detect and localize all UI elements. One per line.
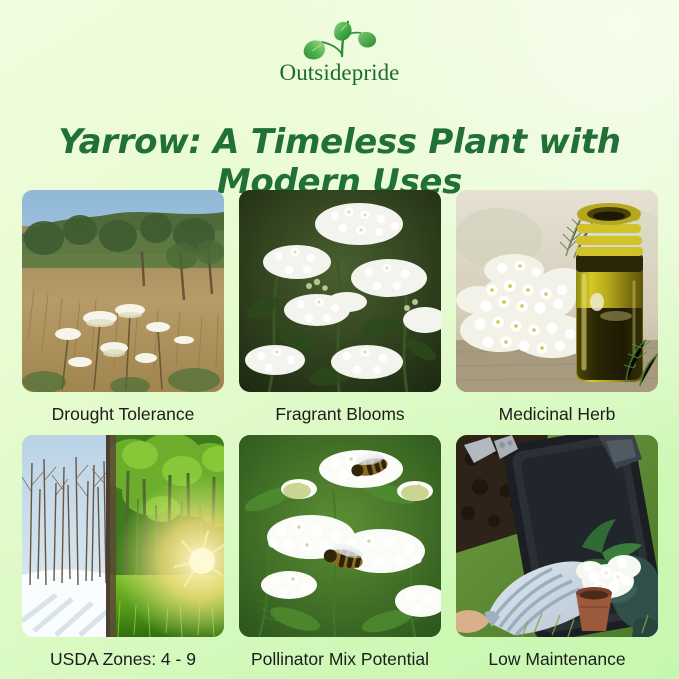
feature-cell-pollinator-mix: Pollinator Mix Potential (239, 435, 441, 675)
bees-on-yarrow-photo (239, 435, 441, 637)
winter-summer-forest-photo (22, 435, 224, 637)
gardening-gloves-tools-photo (456, 435, 658, 637)
feature-cell-fragrant-blooms: Fragrant Blooms (239, 190, 441, 430)
brand-wordmark: Outsidepride (0, 60, 679, 86)
feature-cell-low-maintenance: Low Maintenance (456, 435, 658, 675)
feature-cell-drought-tolerance: Drought Tolerance (22, 190, 224, 430)
feature-caption: Medicinal Herb (456, 392, 658, 430)
feature-caption: Drought Tolerance (22, 392, 224, 430)
feature-cell-medicinal-herb: Medicinal Herb (456, 190, 658, 430)
feature-caption: Fragrant Blooms (239, 392, 441, 430)
essential-oil-bottle-photo (456, 190, 658, 392)
page-title-line-1: Yarrow: A Timeless Plant with (58, 122, 620, 162)
dry-hillside-yarrow-photo (22, 190, 224, 392)
white-yarrow-cluster-photo (239, 190, 441, 392)
poster-canvas: Outsidepride Yarrow: A Timeless Plant wi… (0, 0, 679, 679)
leaf-sprout-icon (298, 6, 382, 64)
feature-grid: Drought Tolerance (22, 190, 657, 675)
brand-logo: Outsidepride (0, 6, 679, 86)
feature-caption: Low Maintenance (456, 637, 658, 675)
feature-cell-usda-zones: USDA Zones: 4 - 9 (22, 435, 224, 675)
feature-caption: Pollinator Mix Potential (239, 637, 441, 675)
feature-caption: USDA Zones: 4 - 9 (22, 637, 224, 675)
